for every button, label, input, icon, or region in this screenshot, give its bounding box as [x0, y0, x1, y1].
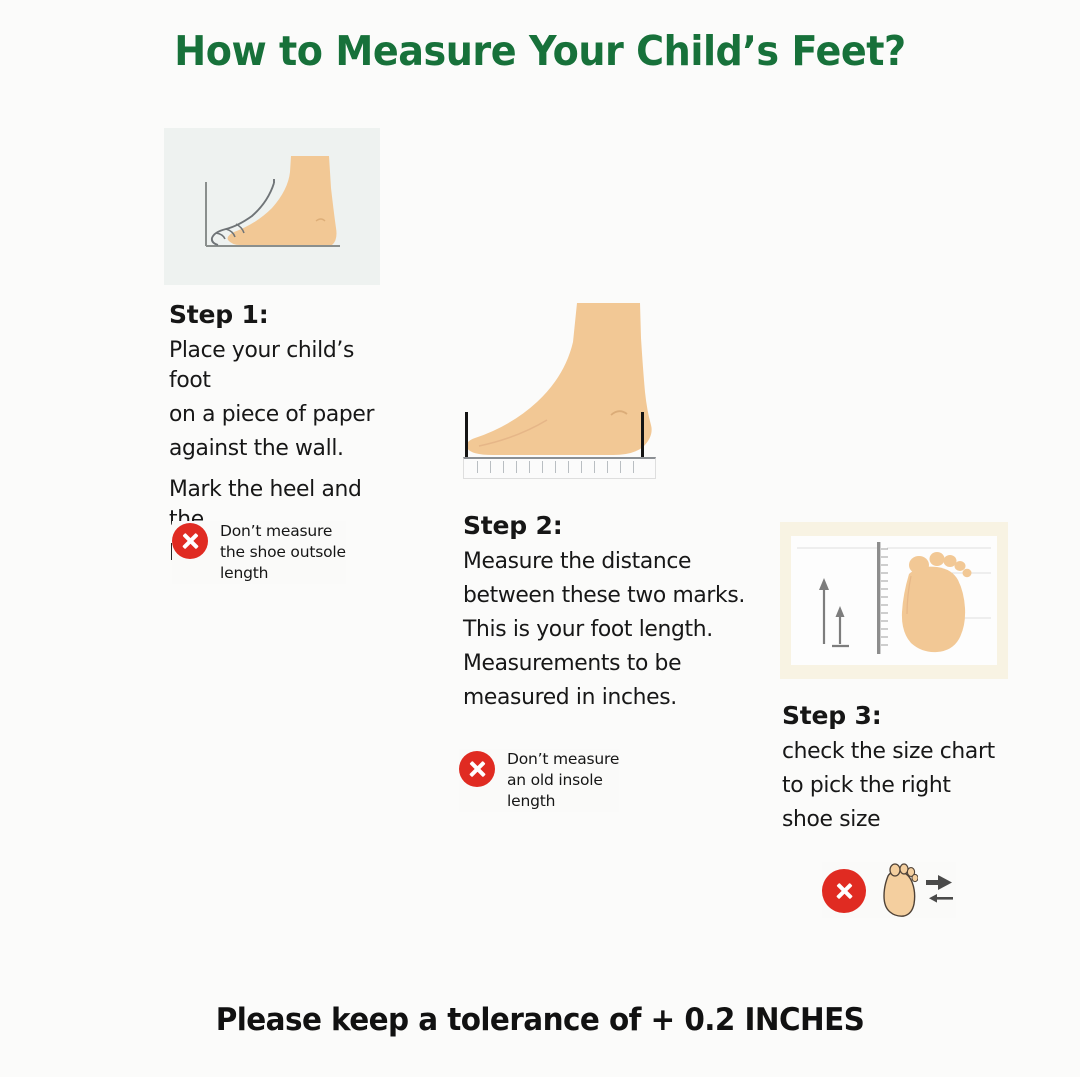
step-2-illustration [455, 298, 690, 483]
left-arrow-icon [929, 894, 953, 903]
tolerance-note: Please keep a tolerance of + 0.2 INCHES [27, 1002, 1053, 1038]
step-3-size-chart-card [780, 522, 1008, 679]
step-3-line-1: check the size chart [782, 736, 1025, 766]
step-3-text-block: Step 3: check the size chart to pick the… [782, 701, 1032, 834]
red-x-circle-icon [822, 869, 866, 913]
step-1-warning-line-1: Don’t measure [220, 521, 346, 542]
step-1-warning-line-3: length [220, 563, 346, 584]
step-3-line-3: shoe size [782, 804, 1025, 834]
step-2-line-2: between these two marks. [463, 580, 773, 610]
step-2-line-5: measured in inches. [463, 682, 773, 712]
step-2-heading: Step 2: [463, 511, 783, 540]
step-1-warning-line-2: the shoe outsole [220, 542, 346, 563]
step-3-line-2: to pick the right [782, 770, 1025, 800]
step-1-warning: Don’t measure the shoe outsole length [172, 521, 346, 584]
infographic-canvas: How to Measure Your Child’s Feet? Step 1… [0, 0, 1080, 1077]
right-arrow-icon [926, 875, 952, 890]
foot-sole-top-view-icon [882, 862, 918, 918]
step-2-warning: Don’t measure an old insole length [459, 749, 619, 812]
step-2-warning-line-2: an old insole [507, 770, 619, 791]
step-2-line-4: Measurements to be [463, 648, 773, 678]
foot-side-view-on-ruler-illustration [455, 298, 690, 483]
ruler-step-2 [463, 457, 656, 479]
step-2-line-1: Measure the distance [463, 546, 773, 576]
red-x-circle-icon [459, 751, 495, 787]
step-2-line-3: This is your foot length. [463, 614, 773, 644]
step-3-heading: Step 3: [782, 701, 1032, 730]
size-chart-inner [791, 536, 997, 665]
step-1-line-2: on a piece of paper [169, 399, 392, 429]
step-2-body: Measure the distance between these two m… [463, 546, 773, 712]
step-3-body: check the size chart to pick the right s… [782, 736, 1025, 834]
step-2-warning-line-3: length [507, 791, 619, 812]
step-2-warning-text: Don’t measure an old insole length [507, 749, 619, 812]
foot-side-view-against-wall-illustration [164, 128, 380, 285]
step-1-illustration-panel [164, 128, 380, 285]
page-title: How to Measure Your Child’s Feet? [38, 27, 1042, 75]
step-1-heading: Step 1: [169, 300, 399, 329]
step-1-line-1: Place your child’s foot [169, 335, 392, 395]
step-1-warning-text: Don’t measure the shoe outsole length [220, 521, 346, 584]
arrow-pair-icons [926, 873, 956, 907]
step-3-warning [822, 862, 956, 918]
step-2-warning-line-1: Don’t measure [507, 749, 619, 770]
step-2-text-block: Step 2: Measure the distance between the… [463, 511, 783, 712]
foot-sole-size-chart-illustration [791, 536, 997, 665]
step-1-line-3: against the wall. [169, 433, 392, 463]
red-x-circle-icon [172, 523, 208, 559]
